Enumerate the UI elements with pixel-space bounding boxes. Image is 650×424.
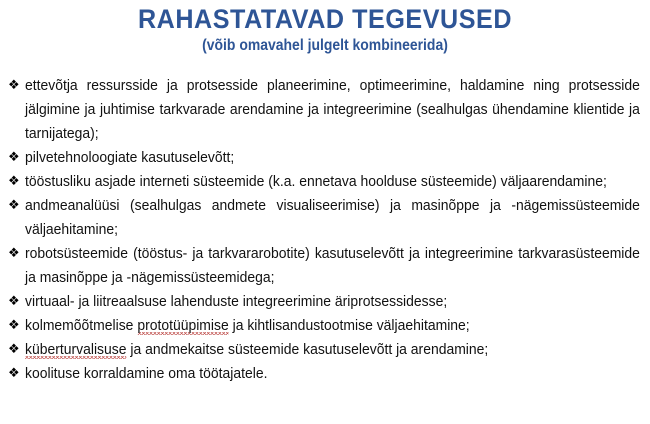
list-item-text: koolituse korraldamine oma töötajatele. bbox=[25, 362, 640, 386]
spellcheck-error-word[interactable]: prototüüpimise bbox=[137, 318, 228, 335]
list-item-text: virtuaal- ja liitreaalsuse lahenduste in… bbox=[25, 290, 640, 314]
list-item-text: robotsüsteemide (tööstus- ja tarkvararob… bbox=[25, 242, 640, 290]
list-item: ❖ ettevõtja ressursside ja protsesside p… bbox=[8, 74, 640, 146]
list-item: ❖ kolmemõõtmelise prototüüpimise ja kiht… bbox=[8, 314, 640, 338]
page-title: RAHASTATAVAD TEGEVUSED bbox=[23, 4, 628, 34]
list-item: ❖ tööstusliku asjade interneti süsteemid… bbox=[8, 170, 640, 194]
slide-canvas: RAHASTATAVAD TEGEVUSED (võib omavahel ju… bbox=[0, 0, 650, 424]
list-item-text-prefix: kolmemõõtmelise bbox=[25, 318, 137, 334]
title-block: RAHASTATAVAD TEGEVUSED (võib omavahel ju… bbox=[0, 0, 650, 55]
spellcheck-error-word[interactable]: küberturvalisuse bbox=[25, 342, 126, 359]
diamond-bullet-icon: ❖ bbox=[8, 74, 20, 98]
list-item: ❖ küberturvalisuse ja andmekaitse süstee… bbox=[8, 338, 640, 362]
list-item: ❖ andmeanalüüsi (sealhulgas andmete visu… bbox=[8, 194, 640, 242]
list-item-text: kolmemõõtmelise prototüüpimise ja kihtli… bbox=[25, 314, 640, 338]
diamond-bullet-icon: ❖ bbox=[8, 314, 20, 338]
funded-activities-list: ❖ ettevõtja ressursside ja protsesside p… bbox=[8, 74, 640, 386]
list-item-text: pilvetehnoloogiate kasutuselevõtt; bbox=[25, 146, 640, 170]
list-item-text-suffix: ja kihtlisandustootmise väljaehitamine; bbox=[229, 318, 470, 334]
list-item: ❖ robotsüsteemide (tööstus- ja tarkvarar… bbox=[8, 242, 640, 290]
list-item-text-suffix: ja andmekaitse süsteemide kasutuselevõtt… bbox=[126, 342, 488, 358]
list-item-text: tööstusliku asjade interneti süsteemide … bbox=[25, 170, 640, 194]
diamond-bullet-icon: ❖ bbox=[8, 170, 20, 194]
diamond-bullet-icon: ❖ bbox=[8, 338, 20, 362]
page-subtitle: (võib omavahel julgelt kombineerida) bbox=[33, 36, 618, 55]
list-item: ❖ koolituse korraldamine oma töötajatele… bbox=[8, 362, 640, 386]
list-item: ❖ virtuaal- ja liitreaalsuse lahenduste … bbox=[8, 290, 640, 314]
list-item: ❖ pilvetehnoloogiate kasutuselevõtt; bbox=[8, 146, 640, 170]
diamond-bullet-icon: ❖ bbox=[8, 290, 20, 314]
list-item-text: andmeanalüüsi (sealhulgas andmete visual… bbox=[25, 194, 640, 242]
diamond-bullet-icon: ❖ bbox=[8, 146, 20, 170]
list-item-text: küberturvalisuse ja andmekaitse süsteemi… bbox=[25, 338, 640, 362]
list-item-text: ettevõtja ressursside ja protsesside pla… bbox=[25, 74, 640, 146]
diamond-bullet-icon: ❖ bbox=[8, 242, 20, 266]
diamond-bullet-icon: ❖ bbox=[8, 194, 20, 218]
diamond-bullet-icon: ❖ bbox=[8, 362, 20, 386]
